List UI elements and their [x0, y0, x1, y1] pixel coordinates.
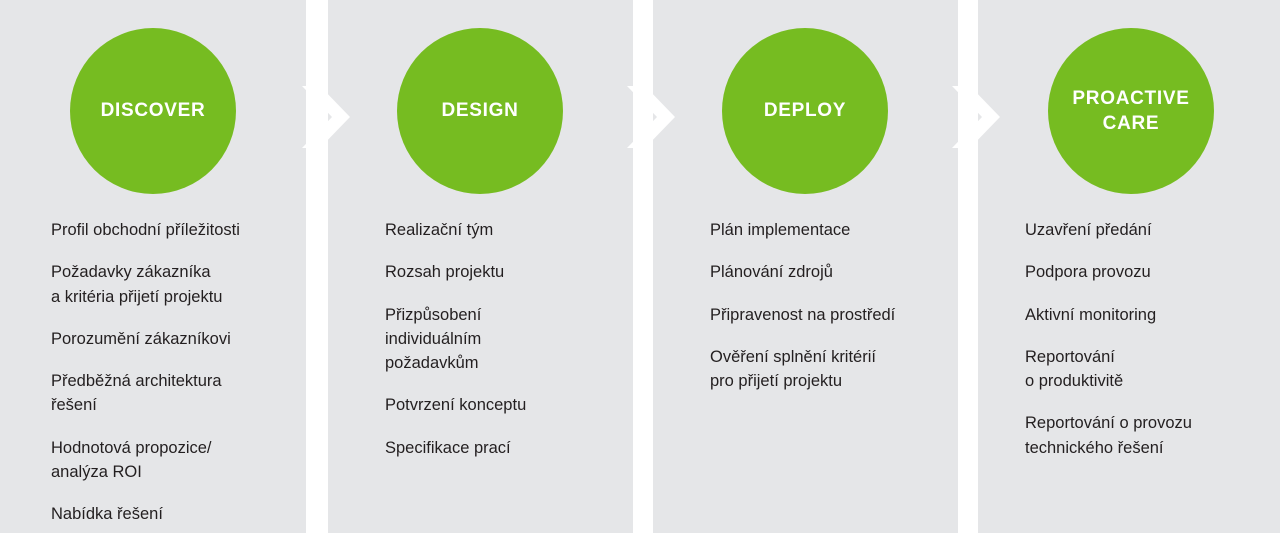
stage-circle-proactive-care: PROACTIVE CARE: [1048, 28, 1214, 194]
stage-item-list-design: Realizační tým Rozsah projektu Přizpůsob…: [385, 218, 619, 460]
list-item: Nabídka řešení: [51, 502, 292, 526]
stage-panel-proactive-care: PROACTIVE CARE Uzavření předání Podpora …: [978, 0, 1280, 533]
list-item: Hodnotová propozice/ analýza ROI: [51, 436, 292, 485]
list-item: Profil obchodní příležitosti: [51, 218, 292, 242]
list-item: Ověření splnění kritérií pro přijetí pro…: [710, 345, 944, 394]
list-item: Plánování zdrojů: [710, 260, 944, 284]
stage-circle-label: DESIGN: [441, 98, 518, 123]
process-flow-diagram: DISCOVER Profil obchodní příležitosti Po…: [0, 0, 1280, 538]
list-item: Připravenost na prostředí: [710, 303, 944, 327]
stage-panel-design: DESIGN Realizační tým Rozsah projektu Př…: [328, 0, 633, 533]
stage-circle-deploy: DEPLOY: [722, 28, 888, 194]
list-item: Předběžná architektura řešení: [51, 369, 292, 418]
list-item: Reportování o produktivitě: [1025, 345, 1266, 394]
stage-item-list-proactive-care: Uzavření předání Podpora provozu Aktivní…: [1025, 218, 1266, 460]
stage-panel-deploy: DEPLOY Plán implementace Plánování zdroj…: [653, 0, 958, 533]
stage-item-list-deploy: Plán implementace Plánování zdrojů Připr…: [710, 218, 944, 393]
list-item: Aktivní monitoring: [1025, 303, 1266, 327]
list-item: Specifikace prací: [385, 436, 619, 460]
list-item: Porozumění zákazníkovi: [51, 327, 292, 351]
list-item: Reportování o provozu technického řešení: [1025, 411, 1266, 460]
list-item: Požadavky zákazníka a kritéria přijetí p…: [51, 260, 292, 309]
list-item: Plán implementace: [710, 218, 944, 242]
stage-circle-design: DESIGN: [397, 28, 563, 194]
stage-circle-label: DEPLOY: [764, 98, 846, 123]
list-item: Přizpůsobení individuálním požadavkům: [385, 303, 619, 376]
stage-circle-label: PROACTIVE CARE: [1072, 86, 1189, 136]
stage-circle-discover: DISCOVER: [70, 28, 236, 194]
list-item: Potvrzení konceptu: [385, 393, 619, 417]
list-item: Podpora provozu: [1025, 260, 1266, 284]
list-item: Uzavření předání: [1025, 218, 1266, 242]
list-item: Realizační tým: [385, 218, 619, 242]
stage-circle-label: DISCOVER: [101, 98, 206, 123]
stage-item-list-discover: Profil obchodní příležitosti Požadavky z…: [51, 218, 292, 526]
list-item: Rozsah projektu: [385, 260, 619, 284]
stage-panel-discover: DISCOVER Profil obchodní příležitosti Po…: [0, 0, 306, 533]
